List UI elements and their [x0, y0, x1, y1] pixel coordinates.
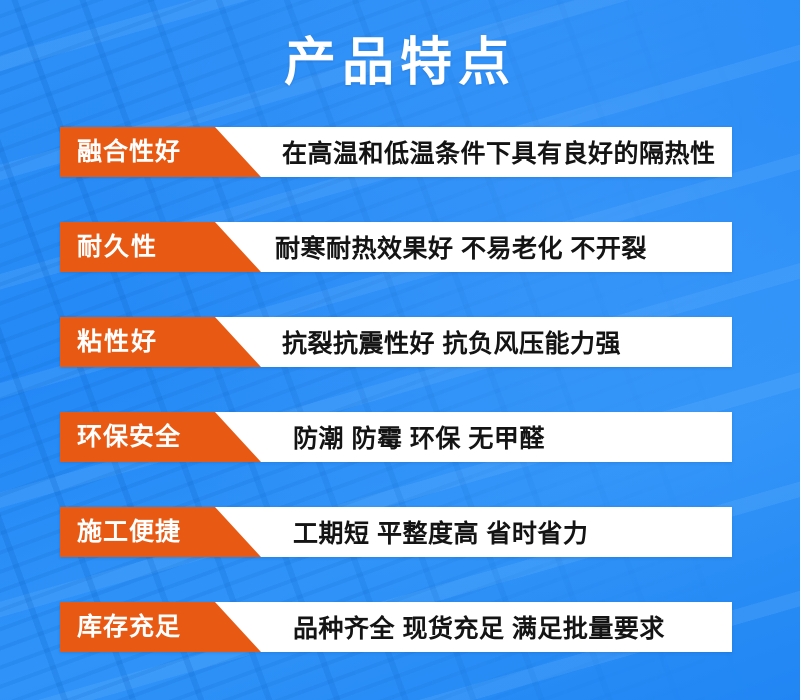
feature-row: 耐久性 耐寒耐热效果好 不易老化 不开裂 [60, 222, 732, 272]
feature-tag-label: 耐久性 [77, 235, 158, 260]
feature-tag: 环保安全 [60, 412, 215, 462]
feature-list: 融合性好 在高温和低温条件下具有良好的隔热性 耐久性 耐寒耐热效果好 不易老化 … [60, 127, 732, 652]
feature-tag-label: 环保安全 [77, 425, 181, 450]
feature-row: 施工便捷 工期短 平整度高 省时省力 [60, 507, 732, 557]
feature-description: 品种齐全 现货充足 满足批量要求 [215, 602, 732, 652]
feature-tag: 粘性好 [60, 317, 215, 367]
feature-tag: 库存充足 [60, 602, 215, 652]
feature-row: 粘性好 抗裂抗震性好 抗负风压能力强 [60, 317, 732, 367]
feature-description: 耐寒耐热效果好 不易老化 不开裂 [215, 222, 732, 272]
feature-tag-label: 库存充足 [77, 615, 181, 640]
feature-tag: 施工便捷 [60, 507, 215, 557]
feature-tag-label: 施工便捷 [77, 520, 181, 545]
feature-description: 在高温和低温条件下具有良好的隔热性 [215, 127, 732, 177]
feature-tag: 融合性好 [60, 127, 215, 177]
feature-row: 库存充足 品种齐全 现货充足 满足批量要求 [60, 602, 732, 652]
feature-row: 融合性好 在高温和低温条件下具有良好的隔热性 [60, 127, 732, 177]
feature-description: 抗裂抗震性好 抗负风压能力强 [215, 317, 732, 367]
page-title: 产品特点 [0, 30, 800, 96]
feature-description: 防潮 防霉 环保 无甲醛 [215, 412, 732, 462]
feature-tag-label: 融合性好 [77, 140, 181, 165]
feature-description: 工期短 平整度高 省时省力 [215, 507, 732, 557]
feature-tag-label: 粘性好 [77, 330, 158, 355]
feature-tag: 耐久性 [60, 222, 215, 272]
product-features-poster: 产品特点 融合性好 在高温和低温条件下具有良好的隔热性 耐久性 耐寒耐热效果好 … [0, 0, 800, 700]
feature-row: 环保安全 防潮 防霉 环保 无甲醛 [60, 412, 732, 462]
